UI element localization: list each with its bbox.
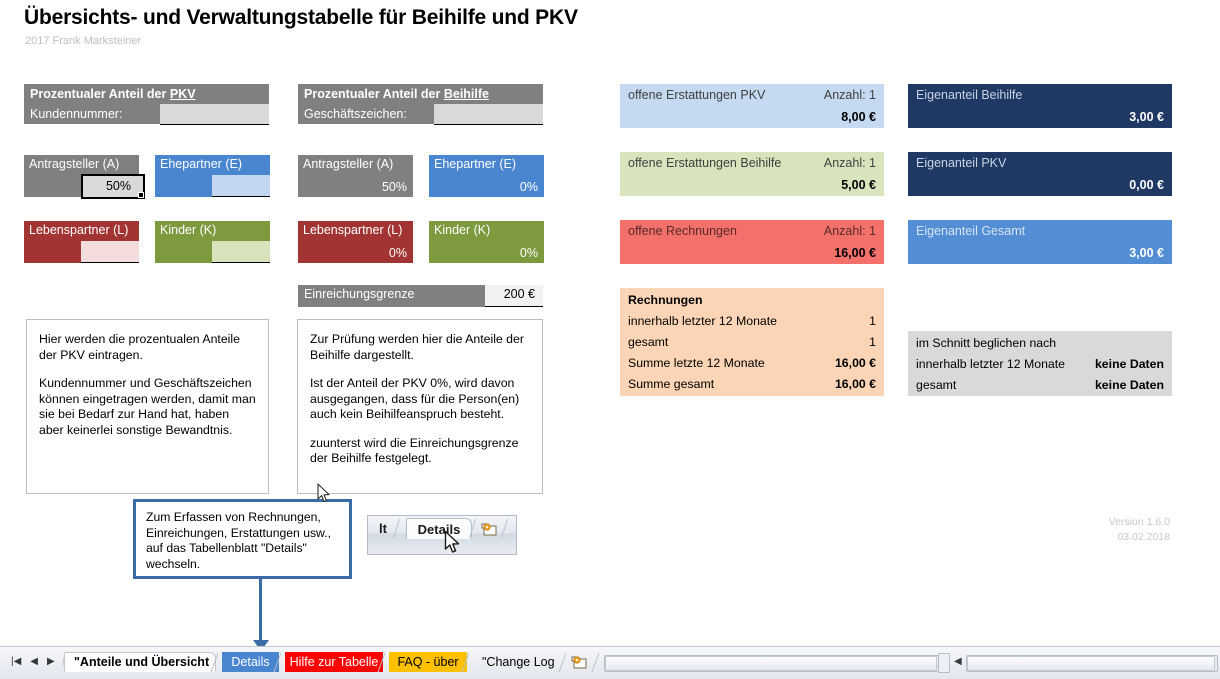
beihilfe-heading: Prozentualer Anteil der Beihilfe — [304, 87, 489, 101]
mouse-cursor-upper — [317, 483, 331, 504]
card-eigenanteil-pkv: Eigenanteil PKV 0,00 € — [908, 152, 1172, 196]
card-offene-erstattungen-beihilfe-title: offene Erstattungen Beihilfe — [628, 156, 781, 170]
card-im-schnitt-row-key: innerhalb letzter 12 Monate — [916, 357, 1065, 371]
sheet-tab-faq-ueber[interactable]: FAQ - über — [389, 652, 467, 672]
card-rechnungen-row-value: 16,00 € — [835, 356, 876, 370]
sheet-tab-anteile-und-uebersicht[interactable]: "Anteile und Übersicht — [64, 652, 216, 672]
info-box-beihilfe-paragraph-3: zuunterst wird die Einreichungsgrenze de… — [310, 436, 530, 467]
beihilfe-share-antragsteller: Antragsteller (A) 50% — [298, 155, 413, 197]
info-box-beihilfe-paragraph-1: Zur Prüfung werden hier die Anteile der … — [310, 332, 530, 363]
mini-tab-partial[interactable]: lt — [370, 518, 396, 538]
beihilfe-share-ehepartner: Ehepartner (E) 0% — [429, 155, 544, 197]
page-subtitle: 2017 Frank Marksteiner — [25, 35, 141, 47]
card-rechnungen-row: innerhalb letzter 12 Monate 1 — [620, 312, 884, 333]
info-box-pkv: Hier werden die prozentualen Anteile der… — [26, 319, 269, 494]
horizontal-scrollbar-right[interactable] — [966, 655, 1218, 672]
card-im-schnitt-row-value: keine Daten — [1095, 357, 1164, 371]
pkv-share-kinder-input[interactable] — [212, 241, 270, 263]
card-offene-rechnungen-amount: 16,00 € — [834, 246, 876, 260]
pkv-share-lebenspartner-input[interactable] — [81, 241, 139, 263]
card-eigenanteil-gesamt: Eigenanteil Gesamt 3,00 € — [908, 220, 1172, 264]
beihilfe-reference-label: Geschäftszeichen: — [304, 107, 407, 121]
pkv-share-kinder-label: Kinder (K) — [160, 223, 216, 237]
mini-tab-separator — [501, 519, 518, 538]
einreichungsgrenze-value[interactable]: 200 € — [485, 285, 543, 307]
info-box-beihilfe-paragraph-2: Ist der Anteil der PKV 0%, wird davon au… — [310, 376, 530, 423]
horizontal-scrollbar-right-thumb[interactable] — [967, 656, 1215, 671]
pkv-share-antragsteller-value: 50% — [106, 179, 131, 193]
sheet-tab-hilfe-zur-tabelle[interactable]: Hilfe zur Tabelle — [285, 652, 383, 672]
card-im-schnitt-row-key: gesamt — [916, 378, 956, 392]
card-offene-erstattungen-beihilfe: offene Erstattungen Beihilfe Anzahl: 1 5… — [620, 152, 884, 196]
callout-line-4: wechseln. — [146, 557, 339, 573]
beihilfe-share-ehepartner-value: 0% — [520, 180, 538, 194]
card-offene-erstattungen-pkv-count: Anzahl: 1 — [824, 88, 876, 102]
card-rechnungen-row: gesamt 1 — [620, 333, 884, 354]
page-title: Übersichts- und Verwaltungstabelle für B… — [24, 6, 578, 30]
pkv-share-ehepartner[interactable]: Ehepartner (E) — [155, 155, 270, 197]
card-eigenanteil-beihilfe: Eigenanteil Beihilfe 3,00 € — [908, 84, 1172, 128]
pkv-share-lebenspartner-label: Lebenspartner (L) — [29, 223, 128, 237]
beihilfe-share-ehepartner-label: Ehepartner (E) — [434, 157, 516, 171]
card-rechnungen-row-value: 16,00 € — [835, 377, 876, 391]
prev-sheet-arrow-icon[interactable]: ◀ — [30, 657, 38, 667]
scroll-left-arrow-icon[interactable]: ◀ — [954, 656, 962, 667]
card-rechnungen-row-key: Summe gesamt — [628, 377, 714, 391]
card-rechnungen-row-key: Summe letzte 12 Monate — [628, 356, 765, 370]
beihilfe-share-kinder-value: 0% — [520, 246, 538, 260]
card-rechnungen-row-value: 1 — [869, 314, 876, 328]
card-rechnungen-row-key: innerhalb letzter 12 Monate — [628, 314, 777, 328]
new-sheet-icon[interactable] — [570, 655, 588, 675]
pkv-share-antragsteller-label: Antragsteller (A) — [29, 157, 119, 171]
callout-line-3: auf das Tabellenblatt "Details" — [146, 541, 339, 557]
pkv-share-ehepartner-input[interactable] — [212, 175, 270, 197]
card-rechnungen-row: Summe letzte 12 Monate 16,00 € — [620, 354, 884, 375]
card-offene-rechnungen: offene Rechnungen Anzahl: 1 16,00 € — [620, 220, 884, 264]
card-eigenanteil-pkv-amount: 0,00 € — [1129, 178, 1164, 192]
card-offene-erstattungen-beihilfe-count: Anzahl: 1 — [824, 156, 876, 170]
pkv-share-ehepartner-label: Ehepartner (E) — [160, 157, 242, 171]
version-date: 03.02.2018 — [1050, 531, 1170, 543]
info-box-pkv-paragraph-2: Kundennummer und Geschäftszeichen können… — [39, 376, 256, 438]
version-label: Version 1.6.0 — [1050, 516, 1170, 528]
beihilfe-share-kinder: Kinder (K) 0% — [429, 221, 544, 263]
card-rechnungen-heading: Rechnungen — [628, 293, 702, 307]
card-rechnungen-row-value: 1 — [869, 335, 876, 349]
card-rechnungen: Rechnungen innerhalb letzter 12 Monate 1… — [620, 288, 884, 396]
beihilfe-share-lebenspartner: Lebenspartner (L) 0% — [298, 221, 413, 263]
info-box-pkv-paragraph-1: Hier werden die prozentualen Anteile der… — [39, 332, 256, 363]
card-im-schnitt-row: gesamt keine Daten — [908, 376, 1172, 397]
card-offene-erstattungen-beihilfe-amount: 5,00 € — [841, 178, 876, 192]
info-box-beihilfe: Zur Prüfung werden hier die Anteile der … — [297, 319, 543, 494]
beihilfe-share-lebenspartner-value: 0% — [389, 246, 407, 260]
card-rechnungen-heading-row: Rechnungen — [620, 291, 884, 312]
mini-tab-details[interactable]: Details — [406, 518, 472, 539]
sheet-tab-details[interactable]: Details — [222, 652, 279, 672]
card-eigenanteil-gesamt-amount: 3,00 € — [1129, 246, 1164, 260]
beihilfe-share-lebenspartner-label: Lebenspartner (L) — [303, 223, 402, 237]
card-im-schnitt: im Schnitt beglichen nach innerhalb letz… — [908, 331, 1172, 396]
card-eigenanteil-beihilfe-amount: 3,00 € — [1129, 110, 1164, 124]
beihilfe-reference-input[interactable] — [434, 104, 543, 125]
card-offene-erstattungen-pkv-title: offene Erstattungen PKV — [628, 88, 765, 102]
card-im-schnitt-row: innerhalb letzter 12 Monate keine Daten — [908, 355, 1172, 376]
callout-line-1: Zum Erfassen von Rechnungen, — [146, 510, 339, 526]
horizontal-scrollbar[interactable] — [604, 655, 944, 672]
callout-box: Zum Erfassen von Rechnungen, Einreichung… — [133, 499, 352, 579]
card-offene-rechnungen-count: Anzahl: 1 — [824, 224, 876, 238]
scrollbar-split-grip[interactable] — [938, 653, 950, 673]
einreichungsgrenze-label: Einreichungsgrenze — [298, 285, 485, 307]
card-rechnungen-row: Summe gesamt 16,00 € — [620, 375, 884, 396]
card-offene-rechnungen-title: offene Rechnungen — [628, 224, 737, 238]
mouse-cursor-lower — [444, 530, 458, 551]
callout-line-2: Einreichungen, Erstattungen usw., — [146, 526, 339, 542]
card-im-schnitt-row-value: keine Daten — [1095, 378, 1164, 392]
card-offene-erstattungen-pkv: offene Erstattungen PKV Anzahl: 1 8,00 € — [620, 84, 884, 128]
beihilfe-share-kinder-label: Kinder (K) — [434, 223, 490, 237]
pkv-customer-number-input[interactable] — [160, 104, 269, 125]
card-im-schnitt-heading-row: im Schnitt beglichen nach — [908, 334, 1172, 355]
card-eigenanteil-pkv-title: Eigenanteil PKV — [916, 156, 1006, 170]
new-sheet-icon[interactable] — [480, 522, 498, 542]
callout-arrow-stem — [259, 579, 262, 641]
card-offene-erstattungen-pkv-amount: 8,00 € — [841, 110, 876, 124]
card-eigenanteil-beihilfe-title: Eigenanteil Beihilfe — [916, 88, 1022, 102]
pkv-share-kinder[interactable]: Kinder (K) — [155, 221, 270, 263]
first-sheet-arrow-icon[interactable]: |◀ — [11, 657, 21, 667]
beihilfe-share-antragsteller-value: 50% — [382, 180, 407, 194]
horizontal-scrollbar-thumb[interactable] — [605, 656, 937, 671]
selection-handle[interactable] — [138, 192, 144, 198]
pkv-share-antragsteller[interactable]: Antragsteller (A) 50% — [24, 155, 139, 197]
card-eigenanteil-gesamt-title: Eigenanteil Gesamt — [916, 224, 1025, 238]
card-im-schnitt-heading: im Schnitt beglichen nach — [916, 336, 1056, 350]
card-rechnungen-row-key: gesamt — [628, 335, 668, 349]
sheet-tab-change-log[interactable]: "Change Log — [473, 652, 561, 672]
pkv-heading: Prozentualer Anteil der PKV — [30, 87, 196, 101]
next-sheet-arrow-icon[interactable]: ▶ — [47, 657, 55, 667]
pkv-customer-number-label: Kundennummer: — [30, 107, 122, 121]
pkv-share-lebenspartner[interactable]: Lebenspartner (L) — [24, 221, 139, 263]
mini-tabstrip-screenshot: lt Details — [367, 515, 517, 555]
beihilfe-share-antragsteller-label: Antragsteller (A) — [303, 157, 393, 171]
